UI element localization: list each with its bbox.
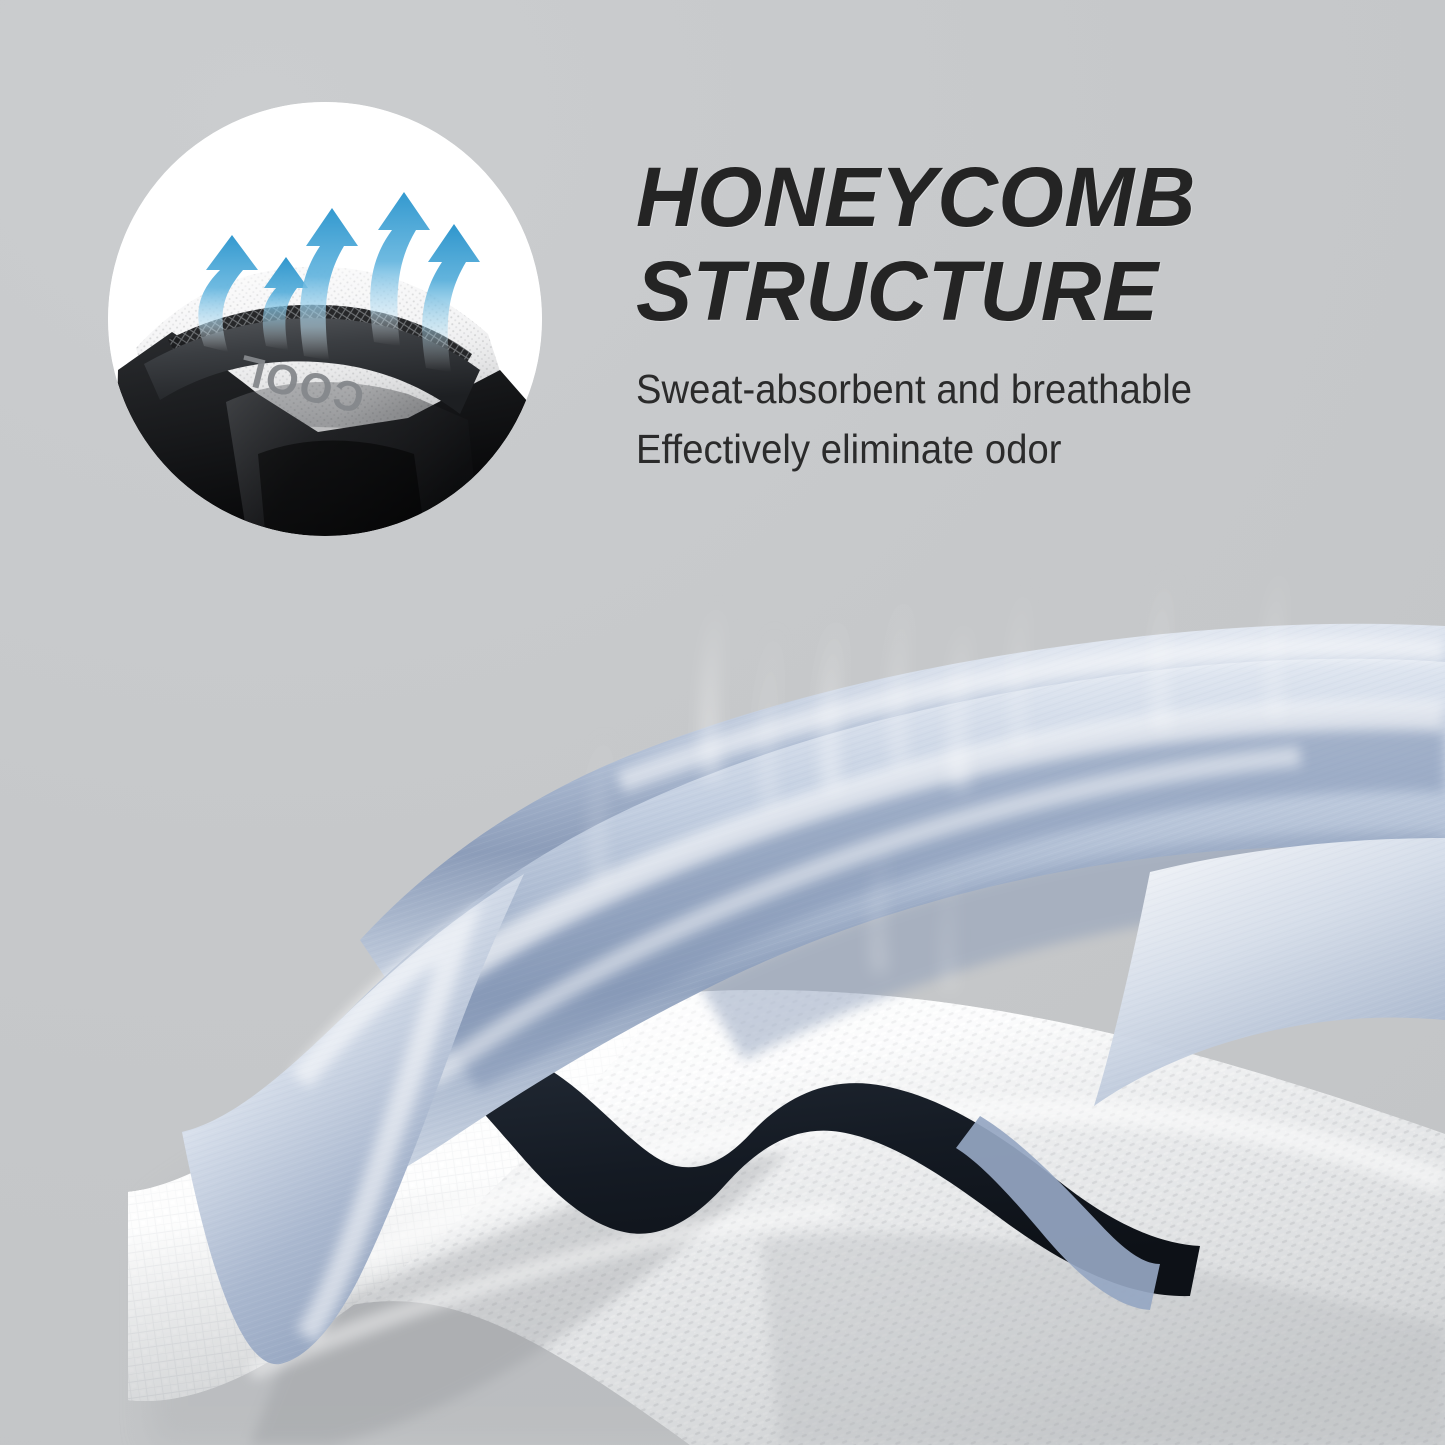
subheadline-line-2: Effectively eliminate odor: [636, 420, 1343, 479]
product-feature-poster: COOL: [0, 0, 1445, 1445]
headline-block: HONEYCOMB STRUCTURE Sweat-absorbent and …: [636, 150, 1396, 479]
inset-illustration: COOL: [108, 102, 542, 536]
fabric-wave-illustration: [0, 520, 1445, 1445]
subheadline-line-1: Sweat-absorbent and breathable: [636, 366, 1192, 412]
subheadline: Sweat-absorbent and breathable Effective…: [636, 338, 1343, 479]
breathability-closeup-inset: COOL: [108, 102, 542, 536]
wave-svg: [0, 520, 1445, 1445]
page-title: HONEYCOMB STRUCTURE: [636, 150, 1396, 338]
